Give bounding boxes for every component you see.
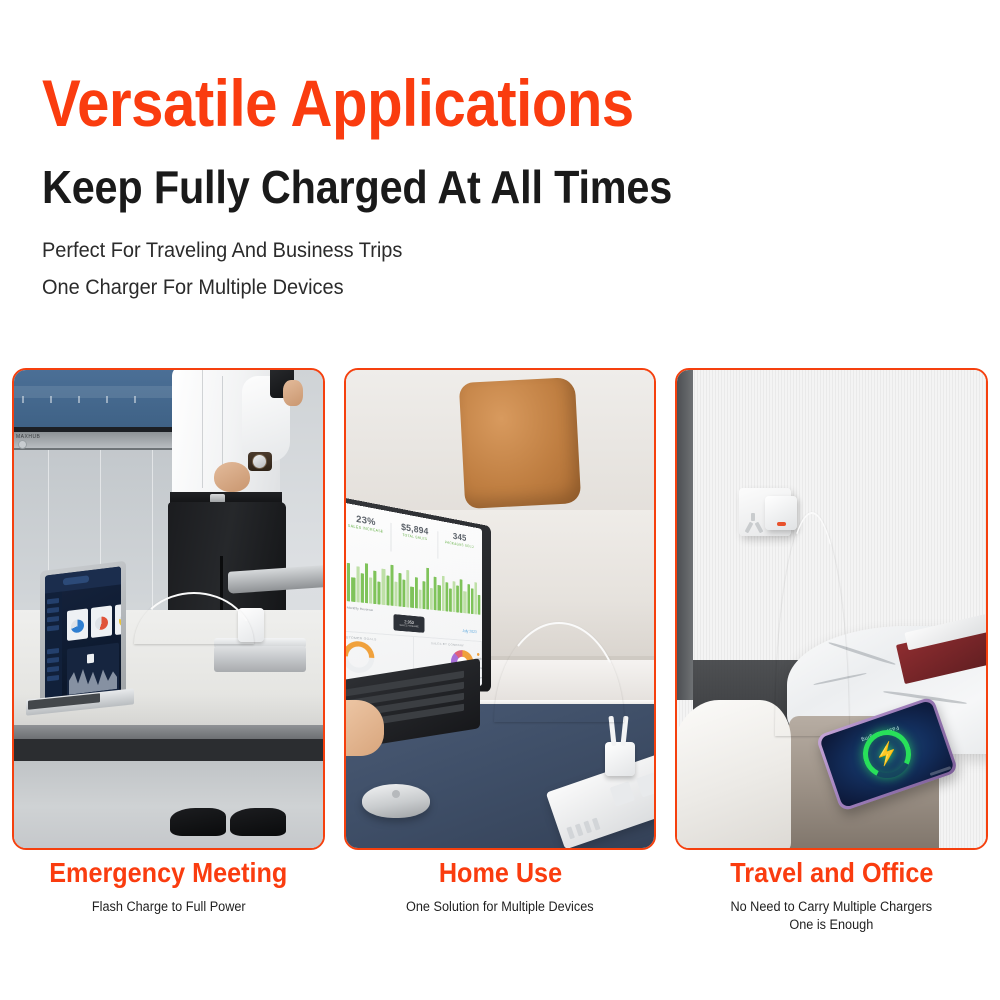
bar	[386, 576, 389, 606]
bar	[441, 575, 444, 611]
bar	[437, 585, 440, 611]
caption-home-use: Home Use One Solution for Multiple Devic…	[344, 858, 657, 934]
bar	[414, 577, 417, 608]
laptop-screen	[45, 566, 121, 705]
wall-display	[14, 370, 181, 432]
mouse-scroll-button	[392, 790, 400, 798]
infographic-page: Versatile Applications Keep Fully Charge…	[0, 0, 1000, 1000]
kpi-total-sales: $5,894 TOTAL SALES	[391, 520, 437, 562]
bar	[463, 591, 466, 613]
bar	[390, 564, 393, 606]
bed-linen	[677, 700, 791, 848]
kpi-sales-increase: 23% SALES INCREASE	[346, 511, 391, 555]
bar	[477, 595, 480, 615]
table-edge	[14, 725, 323, 739]
scenario-panels: MAXHUB	[12, 368, 988, 850]
bedroom-scene: Fast Charging ⚡	[677, 370, 986, 848]
caption-emergency-meeting: Emergency Meeting Flash Charge to Full P…	[12, 858, 325, 934]
watch-face	[252, 454, 267, 469]
laptop	[26, 566, 136, 716]
panel-travel-and-office: Fast Charging ⚡	[675, 368, 988, 850]
desk-power-module	[214, 646, 306, 672]
meeting-room-scene: MAXHUB	[14, 370, 323, 848]
page-title: Versatile Applications	[42, 70, 885, 136]
bar	[373, 571, 376, 604]
bar	[398, 573, 401, 606]
caption-title: Home Use	[438, 858, 561, 889]
bar	[394, 582, 397, 607]
bar	[445, 582, 448, 611]
bar	[430, 588, 433, 610]
bar	[426, 568, 429, 610]
bar	[406, 570, 409, 608]
home-scene: 23% SALES INCREASE $5,894 TOTAL SALES 34…	[346, 370, 655, 848]
panel-home-use: 23% SALES INCREASE $5,894 TOTAL SALES 34…	[344, 368, 657, 850]
display-chart-row	[14, 386, 177, 398]
benefit-item: Perfect For Traveling And Business Trips	[42, 240, 952, 261]
bar	[460, 580, 463, 613]
display-brand-label: MAXHUB	[16, 434, 40, 440]
bar	[410, 586, 413, 607]
legend-label: Monthly Revenue	[347, 605, 373, 612]
bar	[369, 577, 372, 603]
bar	[377, 582, 380, 605]
caption-title: Travel and Office	[730, 858, 933, 889]
gauge-chart	[346, 635, 381, 680]
bar	[449, 588, 452, 611]
hand	[214, 462, 250, 492]
page-subtitle: Keep Fully Charged At All Times	[42, 164, 904, 210]
orange-pillow	[458, 377, 580, 509]
shoe-right	[230, 808, 286, 836]
bar	[382, 569, 385, 605]
bar	[360, 573, 363, 603]
caption-subtitle: One Solution for Multiple Devices	[406, 898, 594, 916]
bar	[467, 584, 470, 613]
table-underside	[14, 739, 323, 761]
bar	[470, 588, 473, 614]
headboard	[677, 370, 693, 700]
caption-title: Emergency Meeting	[49, 858, 287, 889]
shoe-left	[170, 808, 226, 836]
bar	[422, 581, 425, 609]
chart-legend: Monthly Revenue	[346, 604, 373, 612]
hand-upper	[283, 380, 303, 406]
tablet-screen: 23% SALES INCREASE $5,894 TOTAL SALES 34…	[346, 501, 482, 686]
card-title: SALES BY COMPANY	[431, 641, 464, 647]
display-camera-icon	[18, 440, 27, 449]
chart-tooltip: 2,953 SALES VOLUME	[393, 614, 424, 633]
caption-subtitle: No Need to Carry Multiple Chargers One i…	[731, 898, 933, 934]
kpi-packages-sold: 345 PACKAGES SOLD	[438, 528, 480, 568]
bar	[356, 567, 359, 603]
wall-charger-product	[605, 742, 635, 776]
bar	[434, 577, 437, 610]
panel-emergency-meeting: MAXHUB	[12, 368, 325, 850]
area-chart	[69, 659, 117, 695]
outlet-slot	[751, 513, 755, 521]
bar	[418, 589, 421, 608]
bar	[474, 582, 477, 614]
benefit-list: Perfect For Traveling And Business Trips…	[42, 240, 1000, 298]
bar	[456, 586, 459, 613]
chart-axis-label: July 2023	[462, 628, 477, 634]
bar	[347, 563, 350, 601]
caption-travel-and-office: Travel and Office No Need to Carry Multi…	[675, 858, 988, 934]
bar	[351, 577, 354, 602]
bar	[364, 563, 367, 604]
benefit-item: One Charger For Multiple Devices	[42, 277, 952, 298]
charger-usb-port	[777, 522, 786, 526]
bar	[452, 581, 455, 612]
caption-subtitle: Flash Charge to Full Power	[91, 898, 245, 916]
bar	[402, 580, 405, 607]
header: Versatile Applications Keep Fully Charge…	[0, 0, 1000, 298]
tooltip-label: SALES VOLUME	[399, 624, 418, 629]
panel-captions: Emergency Meeting Flash Charge to Full P…	[12, 858, 988, 934]
